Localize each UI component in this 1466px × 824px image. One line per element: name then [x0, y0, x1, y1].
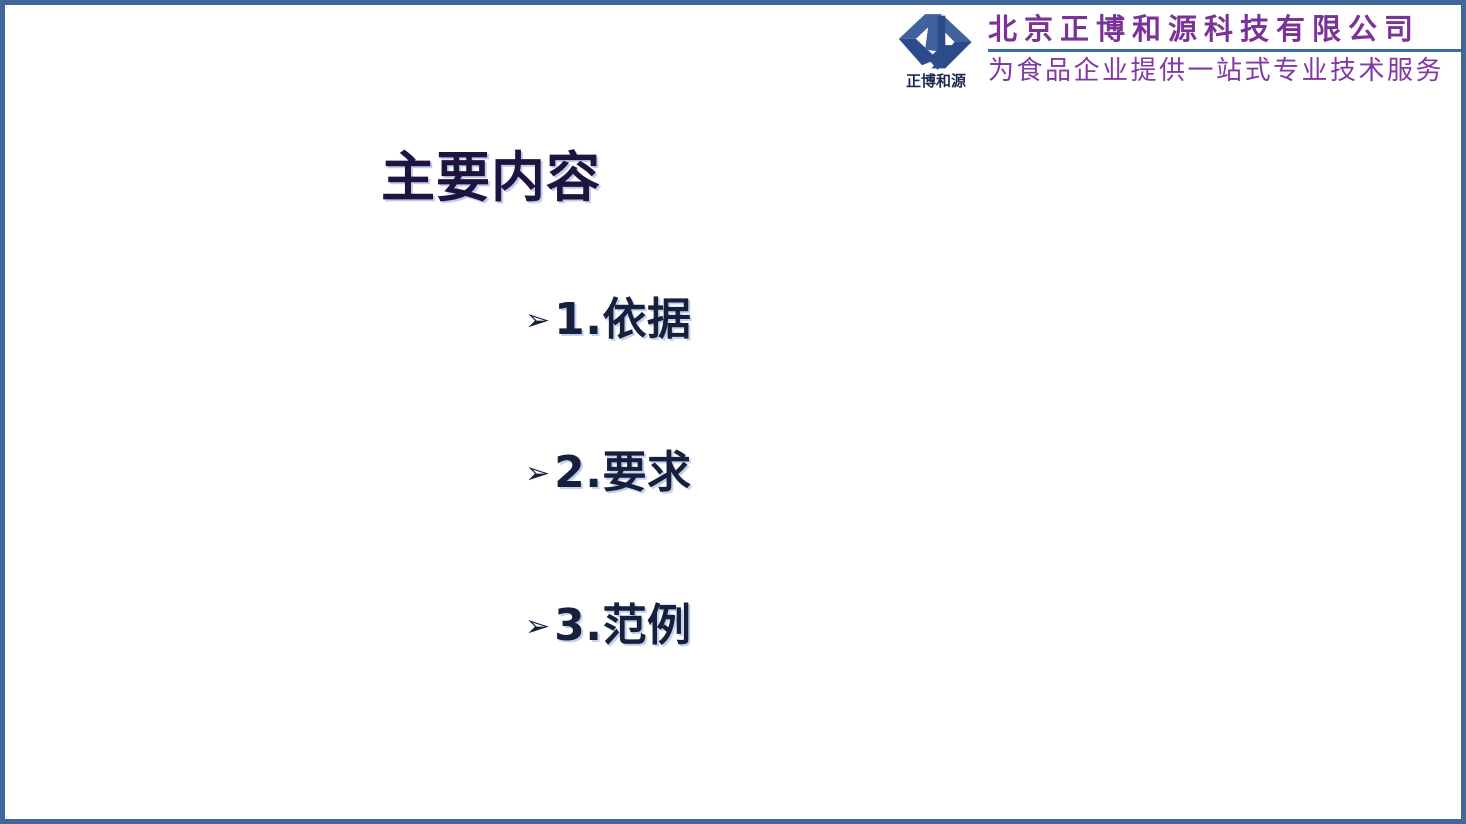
- company-logo-wordmark: 正博和源: [906, 74, 966, 90]
- list-item-label: 2.要求: [554, 450, 691, 496]
- header-text-block: 北京正博和源科技有限公司 为食品企业提供一站式专业技术服务: [982, 9, 1462, 87]
- presentation-slide: 正博和源 北京正博和源科技有限公司 为食品企业提供一站式专业技术服务 主要内容 …: [0, 0, 1466, 824]
- company-name: 北京正博和源科技有限公司: [988, 12, 1462, 46]
- header-divider: [988, 49, 1462, 52]
- list-item: ➢ 1.依据: [525, 297, 1045, 450]
- list-item: ➢ 2.要求: [525, 450, 1045, 603]
- slide-header: 正博和源 北京正博和源科技有限公司 为食品企业提供一站式专业技术服务: [890, 9, 1462, 113]
- company-logo-diamond-z-mark: [897, 11, 975, 73]
- page-title: 主要内容: [381, 148, 601, 207]
- company-tagline: 为食品企业提供一站式专业技术服务: [988, 56, 1462, 87]
- list-item-label: 1.依据: [554, 297, 691, 343]
- list-item-label: 3.范例: [554, 603, 691, 649]
- arrow-bullet-icon: ➢: [525, 612, 550, 642]
- list-item: ➢ 3.范例: [525, 603, 1045, 756]
- arrow-bullet-icon: ➢: [525, 306, 550, 336]
- company-logo: 正博和源: [890, 9, 982, 90]
- arrow-bullet-icon: ➢: [525, 459, 550, 489]
- content-bullet-list: ➢ 1.依据 ➢ 2.要求 ➢ 3.范例: [525, 297, 1045, 756]
